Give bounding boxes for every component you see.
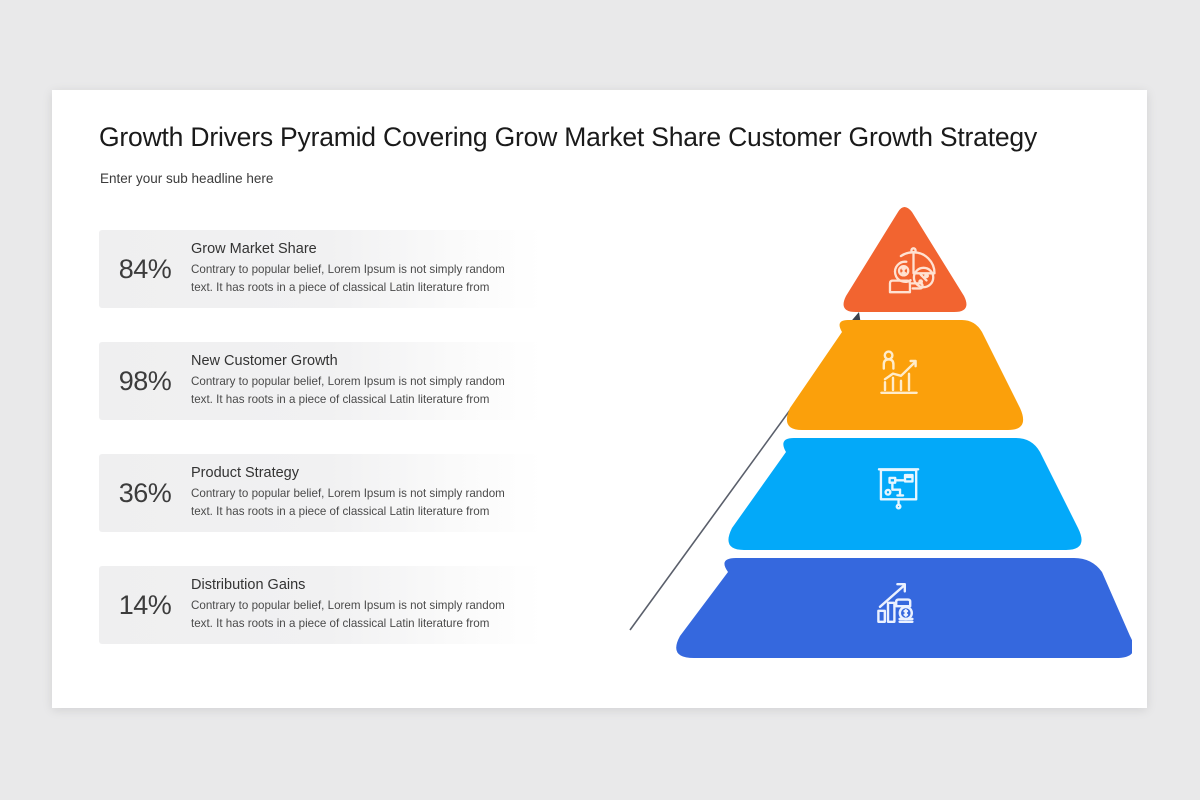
pyramid-tier-3[interactable]	[728, 438, 1081, 550]
stat-description-line2: text. It has roots in a piece of classic…	[191, 615, 536, 633]
stat-description-line2: text. It has roots in a piece of classic…	[191, 279, 536, 297]
stat-percent: 14%	[99, 590, 191, 621]
list-item[interactable]: 14% Distribution Gains Contrary to popul…	[99, 566, 542, 644]
stat-description-line1: Contrary to popular belief, Lorem Ipsum …	[191, 485, 536, 503]
stat-body: Grow Market Share Contrary to popular be…	[191, 241, 542, 297]
stat-heading: Distribution Gains	[191, 577, 536, 594]
stat-body: Product Strategy Contrary to popular bel…	[191, 465, 542, 521]
stat-description-line1: Contrary to popular belief, Lorem Ipsum …	[191, 597, 536, 615]
stat-heading: New Customer Growth	[191, 353, 536, 370]
stat-percent: 84%	[99, 254, 191, 285]
pyramid-tier-4[interactable]	[676, 558, 1132, 658]
stat-description-line2: text. It has roots in a piece of classic…	[191, 503, 536, 521]
list-item[interactable]: 98% New Customer Growth Contrary to popu…	[99, 342, 542, 420]
slide-canvas: Growth Drivers Pyramid Covering Grow Mar…	[52, 90, 1147, 708]
page-title: Growth Drivers Pyramid Covering Grow Mar…	[99, 122, 1109, 153]
stat-description-line2: text. It has roots in a piece of classic…	[191, 391, 536, 409]
stat-body: Distribution Gains Contrary to popular b…	[191, 577, 542, 633]
stat-heading: Product Strategy	[191, 465, 536, 482]
stat-percent: 36%	[99, 478, 191, 509]
pyramid-tier-1[interactable]	[844, 207, 967, 312]
stat-percent: 98%	[99, 366, 191, 397]
stat-description-line1: Contrary to popular belief, Lorem Ipsum …	[191, 261, 536, 279]
stat-heading: Grow Market Share	[191, 241, 536, 258]
stat-body: New Customer Growth Contrary to popular …	[191, 353, 542, 409]
stat-list: 84% Grow Market Share Contrary to popula…	[99, 230, 542, 678]
growth-pyramid-diagram	[552, 190, 1132, 690]
page-subtitle: Enter your sub headline here	[100, 171, 273, 186]
stat-description-line1: Contrary to popular belief, Lorem Ipsum …	[191, 373, 536, 391]
pyramid-tier-2[interactable]	[787, 320, 1023, 430]
list-item[interactable]: 84% Grow Market Share Contrary to popula…	[99, 230, 542, 308]
list-item[interactable]: 36% Product Strategy Contrary to popular…	[99, 454, 542, 532]
